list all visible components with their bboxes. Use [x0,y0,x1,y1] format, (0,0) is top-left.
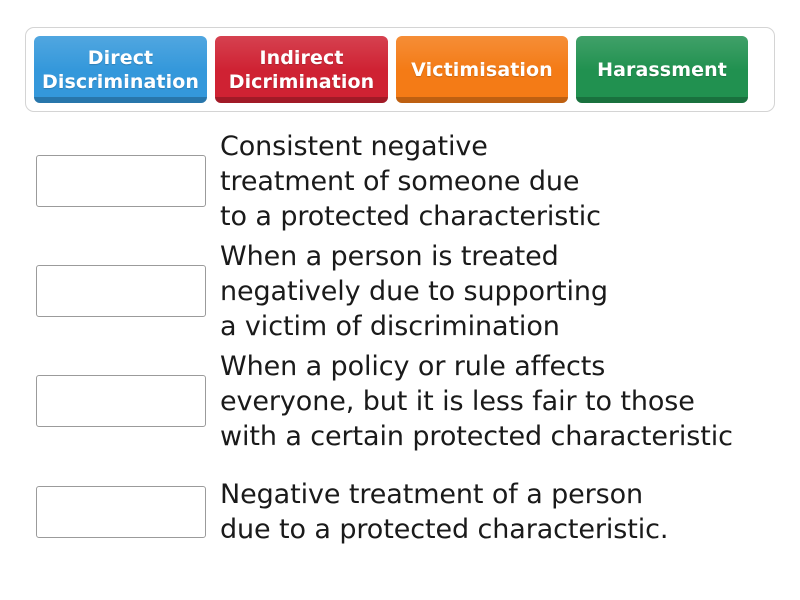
answer-row-3: When a policy or rule affects everyone, … [0,346,800,456]
answer-text-2: When a person is treated negatively due … [220,239,608,344]
tile-label: Direct Discrimination [40,46,201,94]
answer-row-2: When a person is treated negatively due … [0,236,800,346]
draggable-tile-harassment[interactable]: Harassment [576,36,748,103]
answer-row-1: Consistent negative treatment of someone… [0,126,800,236]
dropzone-4[interactable] [36,486,206,538]
tile-label: Indirect Dicrimination [221,46,382,94]
answer-text-1: Consistent negative treatment of someone… [220,129,601,234]
tile-label: Harassment [597,58,727,82]
tile-label: Victimisation [411,58,553,82]
draggable-tile-direct-discrimination[interactable]: Direct Discrimination [34,36,207,103]
dropzone-3[interactable] [36,375,206,427]
draggable-tile-indirect-dicrimination[interactable]: Indirect Dicrimination [215,36,388,103]
dropzone-1[interactable] [36,155,206,207]
answer-text-3: When a policy or rule affects everyone, … [220,349,733,454]
answer-text-4: Negative treatment of a person due to a … [220,477,668,547]
draggable-tile-victimisation[interactable]: Victimisation [396,36,568,103]
answer-row-4: Negative treatment of a person due to a … [0,456,800,568]
dropzone-2[interactable] [36,265,206,317]
tile-tray: Direct Discrimination Indirect Dicrimina… [25,27,775,112]
answer-rows: Consistent negative treatment of someone… [0,126,800,568]
